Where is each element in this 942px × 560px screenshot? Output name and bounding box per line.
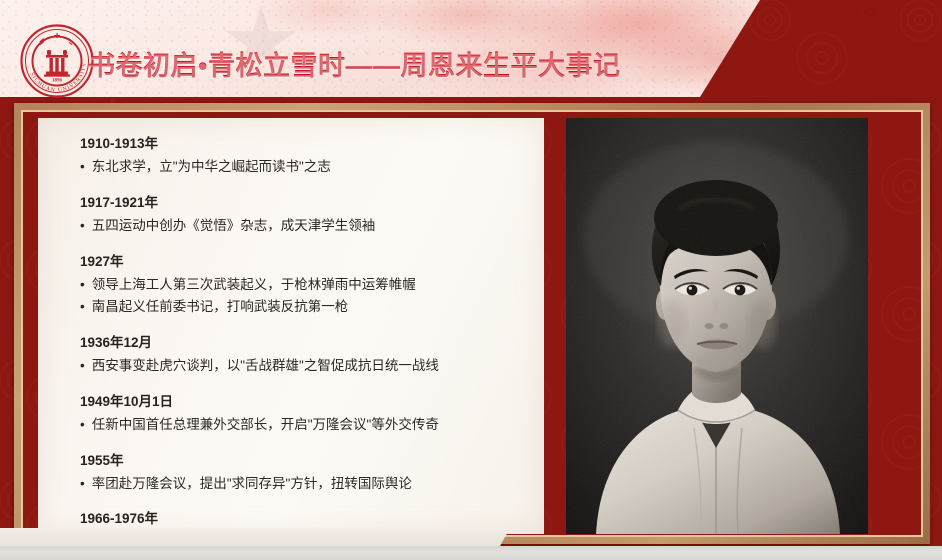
- bullet-icon: •: [80, 157, 85, 178]
- timeline-item-text: 西安事变赴虎穴谈判，以"舌战群雄"之智促成抗日统一战线: [92, 356, 439, 377]
- timeline-entry-year: 1936年12月: [80, 331, 526, 351]
- bullet-icon: •: [80, 415, 85, 436]
- timeline-entry-year: 1949年10月1日: [80, 390, 526, 410]
- timeline-panel: 1910-1913年•东北求学，立"为中华之崛起而读书"之志1917-1921年…: [38, 118, 544, 534]
- timeline-item-text: 领导上海工人第三次武装起义，于枪林弹雨中运筹帷幄: [92, 275, 416, 296]
- timeline-entry-year: 1910-1913年: [80, 132, 526, 152]
- timeline-entry-item: •五四运动中创办《觉悟》杂志，成天津学生领袖: [80, 216, 526, 237]
- bullet-icon: •: [80, 275, 85, 296]
- timeline-item-text: 任新中国首任总理兼外交部长，开启"万隆会议"等外交传奇: [92, 415, 439, 436]
- bottom-status-strip: [0, 546, 942, 560]
- timeline-entry-year: 1927年: [80, 250, 526, 270]
- slide-title: 书卷初启•青松立雪时——周恩来生平大事记: [88, 44, 620, 83]
- timeline-entry-year: 1955年: [80, 449, 526, 469]
- portrait-photo: [566, 118, 868, 534]
- bullet-icon: •: [80, 216, 85, 237]
- timeline-entry: 1917-1921年•五四运动中创办《觉悟》杂志，成天津学生领袖: [80, 191, 526, 237]
- presentation-slide: 1896 SICHUAN UNIVERSITY 书卷初启•青松立雪时——周恩来生…: [0, 0, 942, 560]
- content-frame: 1910-1913年•东北求学，立"为中华之崛起而读书"之志1917-1921年…: [14, 103, 930, 544]
- timeline-entry-item: •率团赴万隆会议，提出"求同存异"方针，扭转国际舆论: [80, 474, 526, 495]
- timeline-list: 1910-1913年•东北求学，立"为中华之崛起而读书"之志1917-1921年…: [38, 118, 544, 534]
- bullet-icon: •: [80, 474, 85, 495]
- timeline-item-text: 南昌起义任前委书记，打响武装反抗第一枪: [92, 297, 349, 318]
- timeline-item-text: 东北求学，立"为中华之崛起而读书"之志: [92, 157, 331, 178]
- timeline-entry-year: 1966-1976年: [80, 507, 526, 527]
- timeline-entry-item: •任新中国首任总理兼外交部长，开启"万隆会议"等外交传奇: [80, 415, 526, 436]
- timeline-entry: 1955年•率团赴万隆会议，提出"求同存异"方针，扭转国际舆论: [80, 449, 526, 495]
- timeline-entry-item: •领导上海工人第三次武装起义，于枪林弹雨中运筹帷幄: [80, 275, 526, 296]
- timeline-entry: 1910-1913年•东北求学，立"为中华之崛起而读书"之志: [80, 132, 526, 178]
- bullet-icon: •: [80, 356, 85, 377]
- timeline-entry-item: •东北求学，立"为中华之崛起而读书"之志: [80, 157, 526, 178]
- timeline-entry-item: •西安事变赴虎穴谈判，以"舌战群雄"之智促成抗日统一战线: [80, 356, 526, 377]
- timeline-entry: 1949年10月1日•任新中国首任总理兼外交部长，开启"万隆会议"等外交传奇: [80, 390, 526, 436]
- timeline-item-text: 率团赴万隆会议，提出"求同存异"方针，扭转国际舆论: [92, 474, 412, 495]
- svg-text:1896: 1896: [52, 79, 63, 84]
- timeline-entry-item: •南昌起义任前委书记，打响武装反抗第一枪: [80, 297, 526, 318]
- timeline-entry: 1927年•领导上海工人第三次武装起义，于枪林弹雨中运筹帷幄•南昌起义任前委书记…: [80, 250, 526, 318]
- timeline-item-text: 五四运动中创办《觉悟》杂志，成天津学生领袖: [92, 216, 376, 237]
- timeline-entry-year: 1917-1921年: [80, 191, 526, 211]
- timeline-entry: 1936年12月•西安事变赴虎穴谈判，以"舌战群雄"之智促成抗日统一战线: [80, 331, 526, 377]
- bullet-icon: •: [80, 297, 85, 318]
- sichuan-university-seal-icon: 1896 SICHUAN UNIVERSITY: [20, 24, 94, 98]
- content-frame-inner: 1910-1913年•东北求学，立"为中华之崛起而读书"之志1917-1921年…: [21, 110, 923, 537]
